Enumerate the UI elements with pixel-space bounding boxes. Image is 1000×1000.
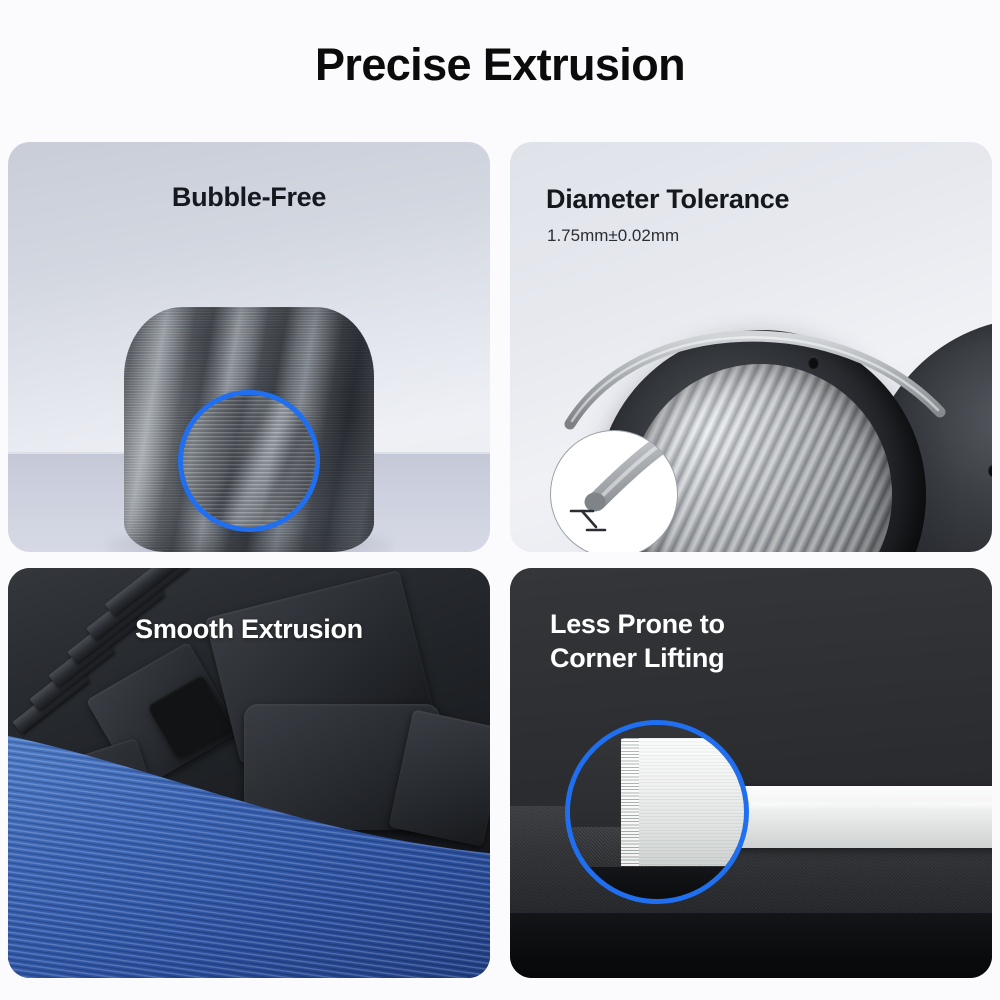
card-title-line-1: Less Prone to	[550, 609, 725, 639]
card-subtitle-tolerance-value: 1.75mm±0.02mm	[547, 226, 679, 246]
magnifier-bed-foreground	[565, 867, 749, 904]
magnifier-zoom-content	[180, 392, 318, 530]
magnifier-zoom-content	[565, 720, 749, 904]
magnifier-circle-corner-icon	[565, 720, 749, 904]
magnifier-circle-filament-icon	[550, 430, 678, 552]
feature-card-bubble-free[interactable]: Bubble-Free	[8, 142, 490, 552]
magnifier-part-corner	[621, 738, 749, 866]
card-title-smooth-extrusion: Smooth Extrusion	[8, 614, 490, 645]
feature-card-diameter-tolerance[interactable]: Diameter Tolerance 1.75mm±0.02mm	[510, 142, 992, 552]
magnifier-circle-icon	[178, 390, 320, 532]
feature-card-corner-lifting[interactable]: Less Prone to Corner Lifting	[510, 568, 992, 978]
card-title-bubble-free: Bubble-Free	[8, 182, 490, 213]
feature-card-grid: Bubble-Free	[8, 142, 992, 992]
print-bed-foreground	[510, 913, 992, 978]
magnifier-swirl-band	[198, 390, 320, 532]
card-title-line-2: Corner Lifting	[550, 643, 724, 673]
card-title-diameter-tolerance: Diameter Tolerance	[546, 184, 789, 215]
card-title-corner-lifting: Less Prone to Corner Lifting	[550, 608, 725, 676]
page-title: Precise Extrusion	[0, 42, 1000, 87]
feature-card-smooth-extrusion[interactable]: Smooth Extrusion	[8, 568, 490, 978]
blue-printed-surface	[8, 718, 490, 978]
